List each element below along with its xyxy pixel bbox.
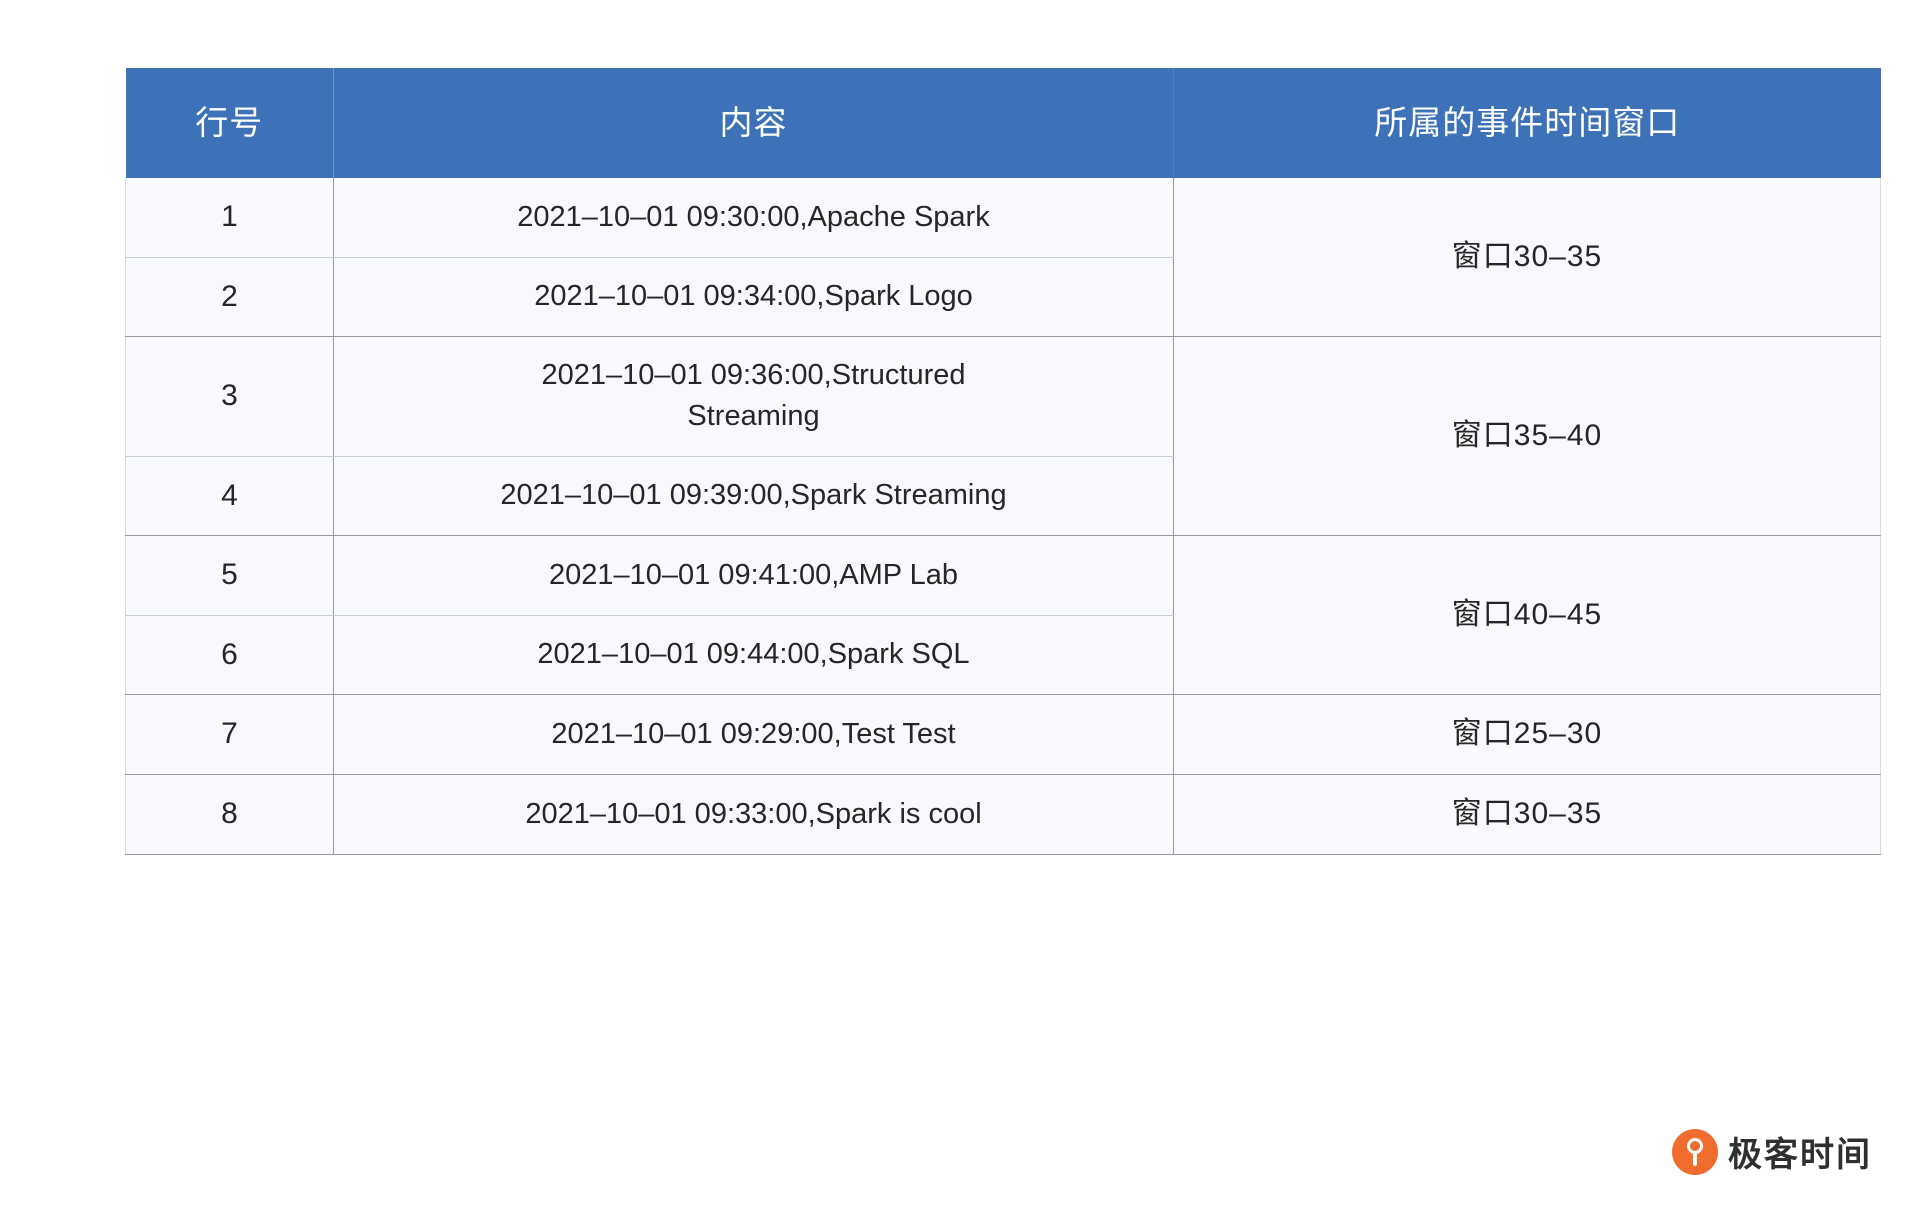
cell-window: 窗口25–30 [1174,695,1881,775]
column-header-content: 内容 [334,68,1174,178]
cell-content: 2021–10–01 09:29:00,Test Test [334,695,1174,775]
cell-row-no: 7 [126,695,334,775]
cell-content: 2021–10–01 09:30:00,Apache Spark [334,178,1174,257]
cell-row-no: 8 [126,774,334,854]
column-header-row-no: 行号 [126,68,334,178]
slide-canvas: 行号 内容 所属的事件时间窗口 1 2021–10–01 09:30:00,Ap… [0,0,1920,1224]
cell-row-no: 2 [126,257,334,337]
cell-content-line-2: Streaming [348,396,1159,437]
cell-window: 窗口30–35 [1174,774,1881,854]
cell-row-no: 4 [126,456,334,536]
cell-content-line-1: 2021–10–01 09:36:00,Structured [348,355,1159,396]
cell-row-no: 1 [126,178,334,257]
table-row: 3 2021–10–01 09:36:00,Structured Streami… [126,337,1881,456]
cell-content: 2021–10–01 09:36:00,Structured Streaming [334,337,1174,456]
event-time-window-table: 行号 内容 所属的事件时间窗口 1 2021–10–01 09:30:00,Ap… [125,68,1881,855]
cell-row-no: 3 [126,337,334,456]
cell-window: 窗口30–35 [1174,178,1881,337]
cell-content: 2021–10–01 09:33:00,Spark is cool [334,774,1174,854]
table-row: 5 2021–10–01 09:41:00,AMP Lab 窗口40–45 [126,536,1881,616]
cell-row-no: 6 [126,615,334,695]
table-row: 7 2021–10–01 09:29:00,Test Test 窗口25–30 [126,695,1881,775]
brand-watermark: 极客时间 [1672,1127,1872,1176]
column-header-window: 所属的事件时间窗口 [1174,68,1881,178]
table-header: 行号 内容 所属的事件时间窗口 [126,68,1881,178]
event-time-window-table-container: 行号 内容 所属的事件时间窗口 1 2021–10–01 09:30:00,Ap… [125,68,1880,855]
table-row: 1 2021–10–01 09:30:00,Apache Spark 窗口30–… [126,178,1881,257]
cell-content: 2021–10–01 09:34:00,Spark Logo [334,257,1174,337]
cell-content: 2021–10–01 09:39:00,Spark Streaming [334,456,1174,536]
cell-window: 窗口40–45 [1174,536,1881,695]
geektime-logo-icon [1672,1129,1718,1175]
table-row: 8 2021–10–01 09:33:00,Spark is cool 窗口30… [126,774,1881,854]
cell-row-no: 5 [126,536,334,616]
cell-content: 2021–10–01 09:44:00,Spark SQL [334,615,1174,695]
table-header-row: 行号 内容 所属的事件时间窗口 [126,68,1881,178]
table-body: 1 2021–10–01 09:30:00,Apache Spark 窗口30–… [126,178,1881,854]
cell-window: 窗口35–40 [1174,337,1881,536]
brand-name: 极客时间 [1728,1127,1872,1176]
cell-content: 2021–10–01 09:41:00,AMP Lab [334,536,1174,616]
